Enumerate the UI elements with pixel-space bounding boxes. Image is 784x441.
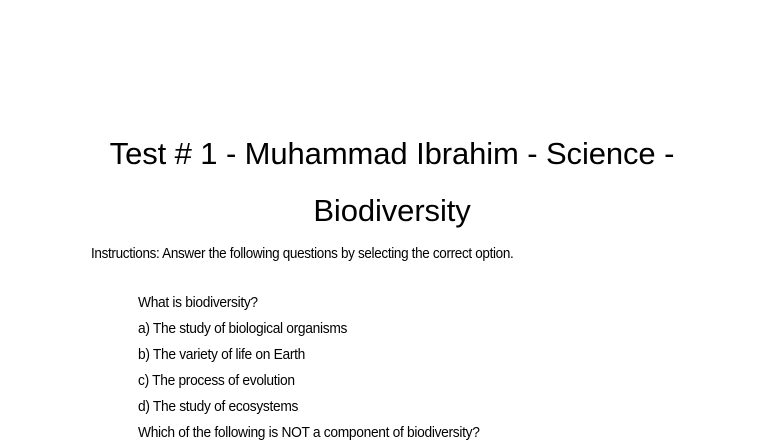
option-a: a) The study of biological organisms xyxy=(138,316,708,342)
question-text: What is biodiversity? xyxy=(138,290,708,316)
question-text-next: Which of the following is NOT a componen… xyxy=(138,420,708,441)
option-c: c) The process of evolution xyxy=(138,368,708,394)
document-page: Test # 1 - Muhammad Ibrahim - Science - … xyxy=(0,0,784,441)
question-block: What is biodiversity? a) The study of bi… xyxy=(138,290,758,441)
option-b: b) The variety of life on Earth xyxy=(138,342,708,368)
option-d: d) The study of ecosystems xyxy=(138,394,708,420)
instructions-text: Instructions: Answer the following quest… xyxy=(91,245,513,263)
page-title: Test # 1 - Muhammad Ibrahim - Science - … xyxy=(92,125,692,239)
